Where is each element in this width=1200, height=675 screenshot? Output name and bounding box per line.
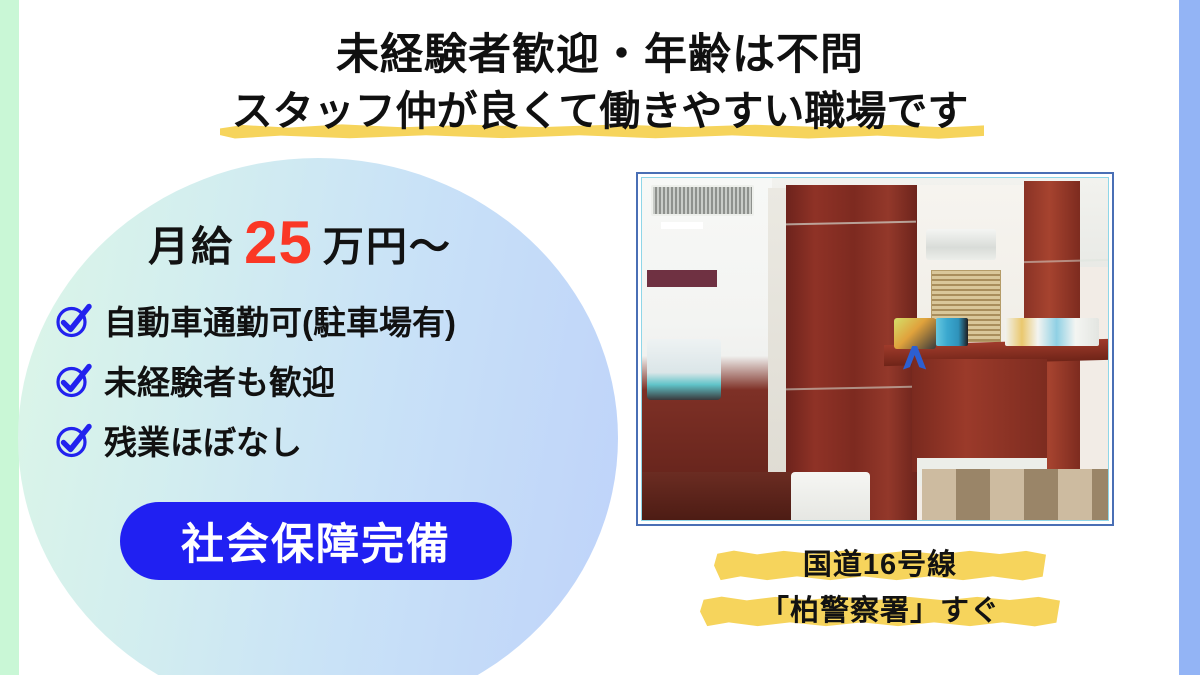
photo-display-products — [1005, 318, 1098, 345]
salary-line: 月給25万円〜 — [60, 208, 540, 277]
photo-floor-heater — [791, 472, 870, 520]
headline-block: 未経験者歓迎・年齢は不問 スタッフ仲が良くて働きやすい職場です — [0, 30, 1200, 135]
location-block: 国道16号線 「柏警察署」すぐ — [700, 546, 1060, 638]
photo-door-frame — [768, 188, 787, 503]
badge-label: 社会保障完備 — [181, 510, 451, 572]
list-item: 自動車通勤可(駐車場有) — [52, 296, 456, 344]
status-badge: 社会保障完備 — [120, 502, 512, 580]
benefit-label: 未経験者も歓迎 — [104, 356, 335, 404]
poster-canvas: 未経験者歓迎・年齢は不問 スタッフ仲が良くて働きやすい職場です 月給25万円〜 … — [0, 0, 1200, 675]
location-line-2: 「柏警察署」すぐ — [700, 592, 1060, 630]
clinic-photo — [641, 177, 1109, 521]
salary-amount-value: 25 — [244, 209, 313, 276]
location-row-1: 国道16号線 — [700, 546, 1060, 584]
benefits-list: 自動車通勤可(駐車場有) 未経験者も歓迎 残業ほぼなし — [52, 296, 456, 476]
photo-counter-bottles — [936, 318, 969, 345]
check-circle-icon — [52, 419, 94, 461]
photo-wood-floor — [642, 472, 791, 520]
salary-prefix-label: 月給 — [148, 224, 234, 270]
photo-wall-accent-band — [647, 270, 717, 287]
list-item: 残業ほぼなし — [52, 416, 456, 464]
location-line-1: 国道16号線 — [700, 546, 1060, 584]
photo-air-conditioner — [926, 229, 996, 260]
benefit-label: 残業ほぼなし — [104, 416, 302, 464]
photo-checkered-floor — [922, 469, 1108, 520]
check-circle-icon — [52, 299, 94, 341]
clinic-photo-frame — [636, 172, 1114, 526]
photo-flower-arrangement — [894, 318, 936, 349]
headline-line-1: 未経験者歓迎・年齢は不問 — [0, 30, 1200, 81]
location-row-2: 「柏警察署」すぐ — [700, 592, 1060, 630]
headline-line-2-wrapper: スタッフ仲が良くて働きやすい職場です — [232, 87, 969, 135]
headline-line-2: スタッフ仲が良くて働きやすい職場です — [232, 87, 969, 135]
photo-dental-chair — [647, 339, 722, 401]
photo-ceiling-light — [661, 222, 703, 229]
check-circle-icon — [52, 359, 94, 401]
salary-suffix-label: 万円〜 — [323, 224, 452, 270]
photo-ceiling-air-conditioner — [651, 185, 754, 216]
list-item: 未経験者も歓迎 — [52, 356, 456, 404]
benefit-label: 自動車通勤可(駐車場有) — [104, 296, 456, 344]
photo-reception-counter — [912, 359, 1047, 472]
